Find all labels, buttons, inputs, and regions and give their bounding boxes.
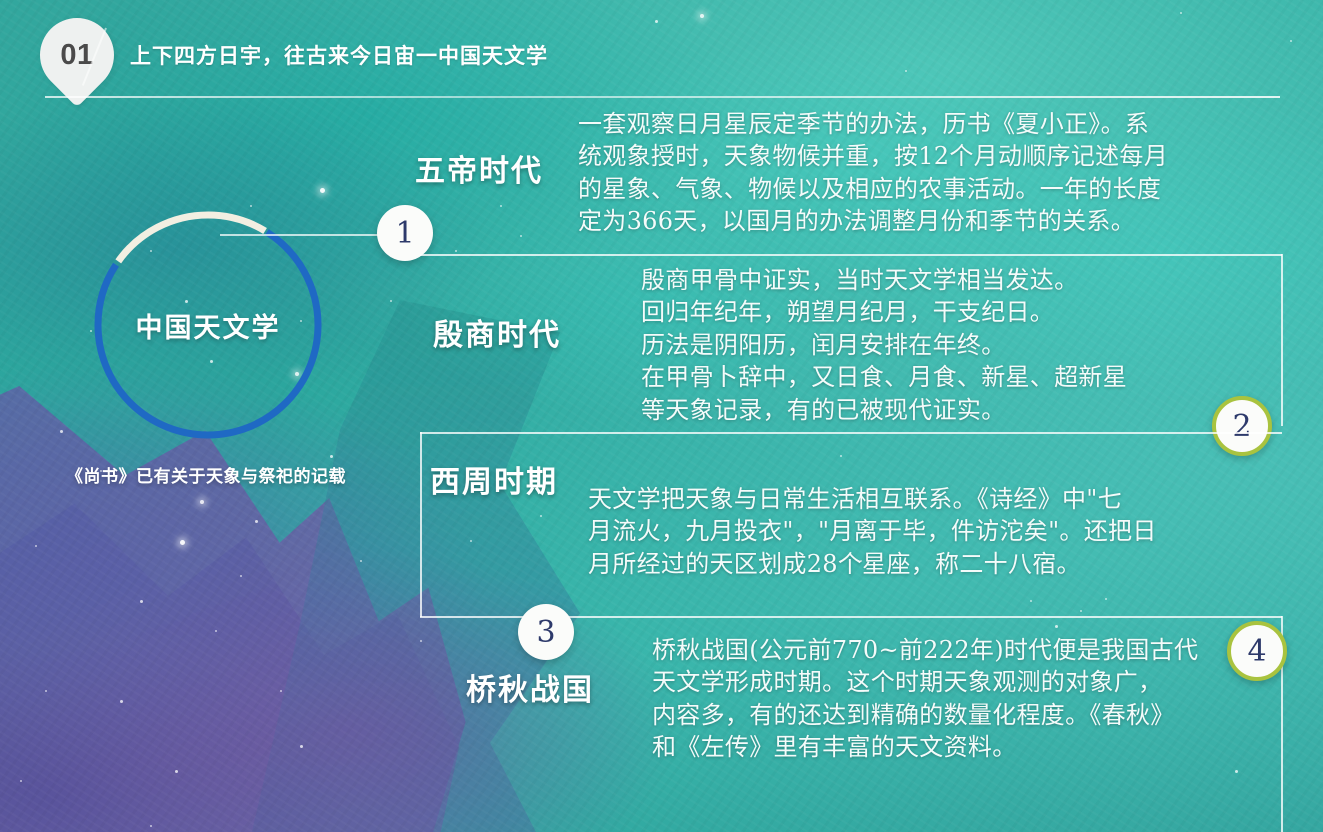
section-3-left-rule bbox=[420, 432, 422, 617]
connector-line-1 bbox=[220, 234, 400, 236]
section-3-title: 西周时期 bbox=[430, 457, 558, 501]
section-1-body: 一套观察日月星辰定季节的办法，历书《夏小正》。系 统观象授时，天象物候并重，按1… bbox=[578, 108, 1288, 238]
page-title: 上下四方日宇，往古来今日宙一中国天文学 bbox=[130, 40, 548, 70]
header-divider bbox=[45, 96, 1280, 98]
central-ring: 中国天文学 bbox=[88, 205, 328, 445]
section-3-body: 天文学把天象与日常生活相互联系。《诗经》中"七 月流火，九月投衣"，"月离于毕，… bbox=[588, 483, 1268, 580]
section-4-title: 桥秋战国 bbox=[466, 665, 594, 709]
badge-1[interactable]: 1 bbox=[377, 205, 433, 261]
badge-2[interactable]: 2 bbox=[1212, 396, 1272, 456]
section-4-body: 桥秋战国(公元前770~前222年)时代便是我国古代 天文学形成时期。这个时期天… bbox=[652, 634, 1323, 764]
section-number-label: 01 bbox=[40, 18, 114, 92]
slide-header: 01 上下四方日宇，往古来今日宙一中国天文学 bbox=[0, 0, 1323, 100]
section-2-body: 殷商甲骨中证实，当时天文学相当发达。 回归年纪年，朔望月纪月，干支纪日。 历法是… bbox=[641, 264, 1291, 426]
badge-4[interactable]: 4 bbox=[1227, 621, 1287, 681]
section-1-title: 五帝时代 bbox=[415, 146, 543, 190]
section-2-title: 殷商时代 bbox=[433, 310, 561, 354]
badge-3[interactable]: 3 bbox=[518, 604, 574, 660]
ring-caption: 《尚书》已有关于天象与祭祀的记载 bbox=[36, 462, 376, 487]
section-3-top-rule bbox=[420, 432, 1282, 434]
slide-canvas: 01 上下四方日宇，往古来今日宙一中国天文学 中国天文学 《尚书》已有关于天象与… bbox=[0, 0, 1323, 832]
section-2-top-rule bbox=[420, 254, 1282, 256]
ring-center-label: 中国天文学 bbox=[88, 205, 328, 445]
